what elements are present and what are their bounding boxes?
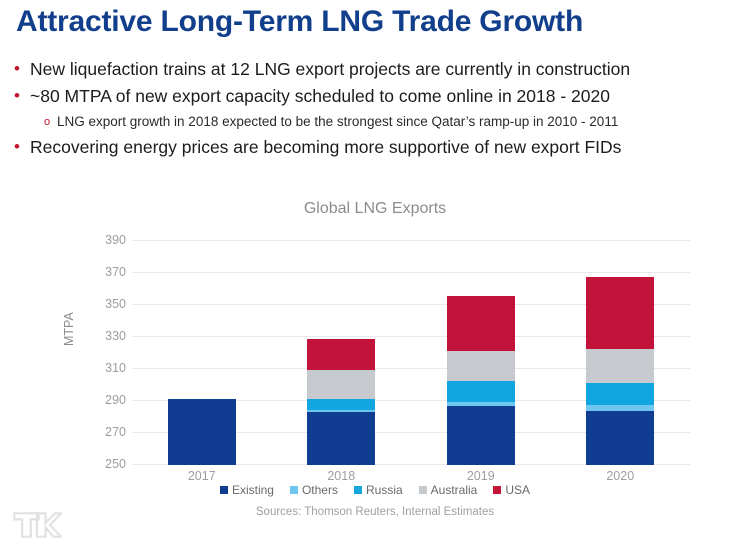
bar-segment-others[interactable] xyxy=(307,410,375,412)
y-axis-title: MTPA xyxy=(62,312,76,346)
source-note: Sources: Thomson Reuters, Internal Estim… xyxy=(0,506,750,518)
legend-item[interactable]: Existing xyxy=(220,483,274,497)
bullet-item: •New liquefaction trains at 12 LNG expor… xyxy=(14,58,744,80)
bar-segment-existing[interactable] xyxy=(168,399,236,465)
legend-label: Australia xyxy=(431,483,478,497)
gridline xyxy=(132,272,690,273)
bullet-text: ~80 MTPA of new export capacity schedule… xyxy=(30,85,744,107)
gridline xyxy=(132,240,690,241)
bar-segment-existing[interactable] xyxy=(586,411,654,465)
bullet-text: LNG export growth in 2018 expected to be… xyxy=(57,112,744,131)
x-tick-label: 2020 xyxy=(580,469,660,483)
bar-segment-russia[interactable] xyxy=(586,383,654,405)
bar-segment-usa[interactable] xyxy=(447,296,515,350)
bullet-item: •~80 MTPA of new export capacity schedul… xyxy=(14,85,744,107)
y-tick-label: 310 xyxy=(90,361,126,375)
y-tick-label: 370 xyxy=(90,265,126,279)
legend-label: USA xyxy=(505,483,530,497)
bullet-marker-icon: • xyxy=(14,136,30,157)
y-tick-label: 390 xyxy=(90,233,126,247)
legend-label: Existing xyxy=(232,483,274,497)
legend-swatch-icon xyxy=(290,486,298,494)
y-tick-label: 290 xyxy=(90,393,126,407)
legend-swatch-icon xyxy=(493,486,501,494)
bar-group[interactable] xyxy=(447,296,515,465)
legend-swatch-icon xyxy=(419,486,427,494)
page-title: Attractive Long-Term LNG Trade Growth xyxy=(16,4,736,40)
bar-segment-existing[interactable] xyxy=(447,406,515,465)
bar-group[interactable] xyxy=(307,339,375,465)
bullet-marker-icon: o xyxy=(44,112,57,132)
bullet-marker-icon: • xyxy=(14,85,30,106)
bar-segment-others[interactable] xyxy=(447,402,515,406)
y-axis-ticks: 250270290310330350370390 xyxy=(90,241,126,465)
chart-legend: ExistingOthersRussiaAustraliaUSA xyxy=(0,483,750,497)
bullet-item: •Recovering energy prices are becoming m… xyxy=(14,136,744,158)
legend-item[interactable]: Australia xyxy=(419,483,478,497)
legend-item[interactable]: Others xyxy=(290,483,338,497)
bar-segment-australia[interactable] xyxy=(586,349,654,383)
bar-segment-russia[interactable] xyxy=(447,381,515,402)
plot-area: 2017201820192020 xyxy=(132,241,690,465)
bar-segment-usa[interactable] xyxy=(307,339,375,369)
plot-wrapper: MTPA 250270290310330350370390 2017201820… xyxy=(0,196,750,486)
legend-item[interactable]: Russia xyxy=(354,483,403,497)
bullet-item: oLNG export growth in 2018 expected to b… xyxy=(44,112,744,132)
bullet-marker-icon: • xyxy=(14,58,30,79)
x-tick-label: 2019 xyxy=(441,469,521,483)
bullet-list: •New liquefaction trains at 12 LNG expor… xyxy=(14,58,744,163)
legend-swatch-icon xyxy=(354,486,362,494)
chart-container: Global LNG Exports MTPA 2502702903103303… xyxy=(0,196,750,536)
bar-segment-russia[interactable] xyxy=(307,399,375,410)
y-tick-label: 350 xyxy=(90,297,126,311)
bar-segment-australia[interactable] xyxy=(447,351,515,381)
bullet-text: Recovering energy prices are becoming mo… xyxy=(30,136,744,158)
y-tick-label: 330 xyxy=(90,329,126,343)
bar-segment-others[interactable] xyxy=(586,405,654,411)
bar-group[interactable] xyxy=(168,399,236,465)
x-tick-label: 2018 xyxy=(301,469,381,483)
bar-segment-existing[interactable] xyxy=(307,412,375,465)
teekay-tk-logo xyxy=(10,508,62,542)
legend-item[interactable]: USA xyxy=(493,483,530,497)
bar-group[interactable] xyxy=(586,277,654,465)
x-tick-label: 2017 xyxy=(162,469,242,483)
y-tick-label: 250 xyxy=(90,457,126,471)
legend-label: Russia xyxy=(366,483,403,497)
bullet-text: New liquefaction trains at 12 LNG export… xyxy=(30,58,744,80)
legend-swatch-icon xyxy=(220,486,228,494)
bar-segment-australia[interactable] xyxy=(307,370,375,399)
legend-label: Others xyxy=(302,483,338,497)
y-tick-label: 270 xyxy=(90,425,126,439)
bar-segment-usa[interactable] xyxy=(586,277,654,349)
